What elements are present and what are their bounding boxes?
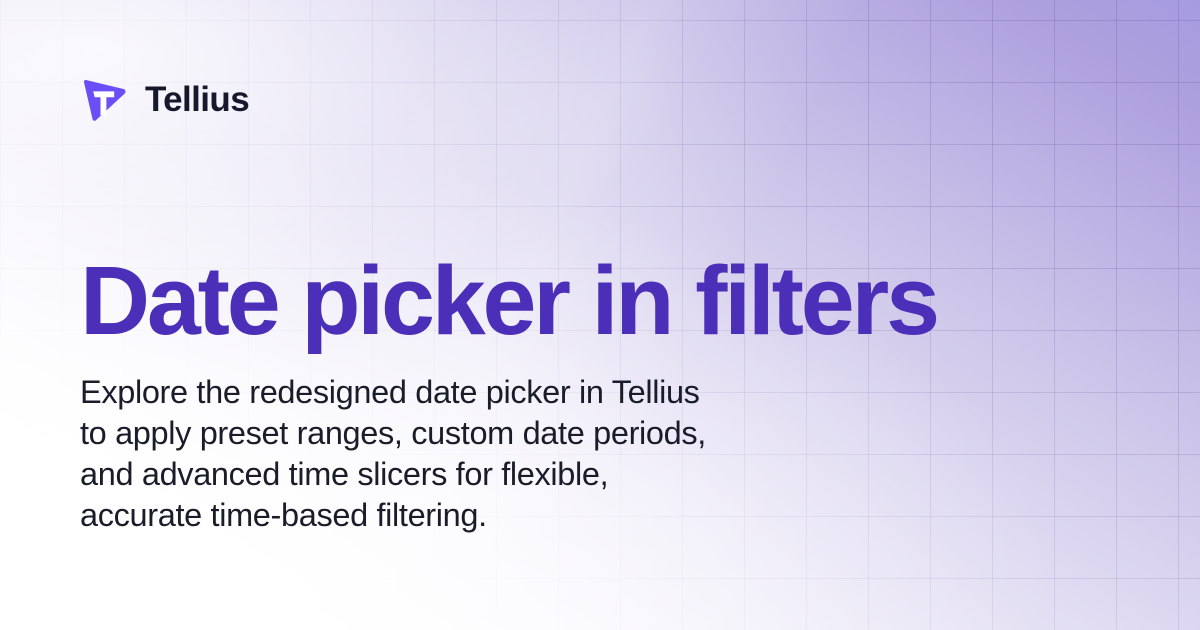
hero-banner: Tellius Date picker in filters Explore t…: [0, 0, 1200, 630]
brand-lockup: Tellius: [80, 74, 249, 124]
brand-wordmark: Tellius: [145, 82, 249, 117]
page-title: Date picker in filters: [80, 252, 1040, 349]
hero-description: Explore the redesigned date picker in Te…: [80, 349, 870, 536]
hero-description-line: and advanced time slicers for flexible,: [80, 454, 870, 495]
hero-description-line: to apply preset ranges, custom date peri…: [80, 413, 870, 454]
hero-description-line: accurate time-based filtering.: [80, 495, 870, 536]
hero-copy: Date picker in filters Explore the redes…: [80, 252, 1040, 536]
hero-description-line: Explore the redesigned date picker in Te…: [80, 372, 870, 413]
tellius-logo-icon: [80, 74, 130, 124]
